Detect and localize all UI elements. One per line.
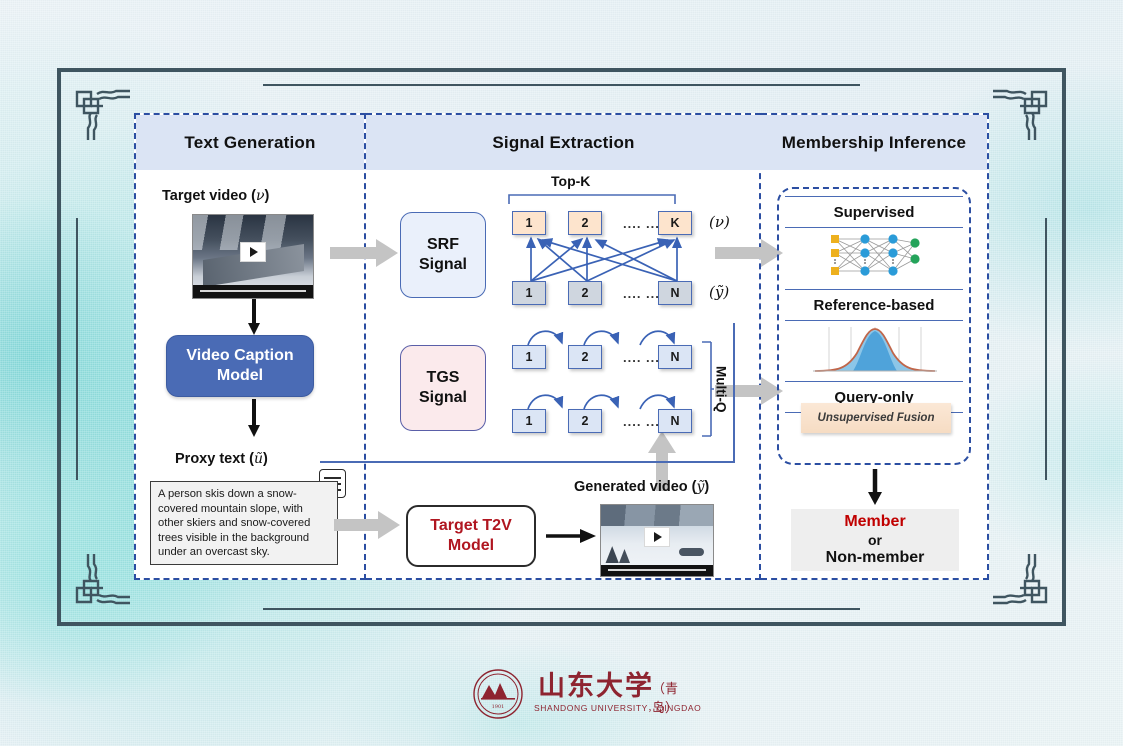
- frame-inner-line-right: [1045, 218, 1047, 480]
- target-video-caption-close: ): [265, 188, 270, 204]
- multiq-label: Multi-Q: [714, 366, 729, 413]
- frame-inner-line-left: [76, 218, 78, 480]
- arrow-caption-model-to-proxy-text: [246, 399, 262, 437]
- column-header-label: Signal Extraction: [492, 133, 634, 153]
- column-header-text-generation: Text Generation: [136, 115, 364, 170]
- video-progress-bar[interactable]: [193, 285, 313, 298]
- tgs-row1-arrows: [508, 325, 698, 349]
- generated-video-thumbnail[interactable]: [600, 504, 714, 577]
- proxy-text-body: A person skis down a snow-covered mounta…: [158, 488, 310, 558]
- srf-line2: Signal: [419, 255, 467, 275]
- srf-signal-box[interactable]: SRF Signal: [400, 212, 486, 298]
- srf-top-token: 1: [512, 211, 546, 235]
- play-button-icon[interactable]: [644, 527, 670, 547]
- distribution-curve-icon: [813, 325, 937, 379]
- video-rock: [679, 548, 704, 557]
- method-band-reference-based[interactable]: Reference-based: [785, 289, 963, 321]
- method-label-reference-based: Reference-based: [814, 297, 935, 314]
- frame-edge-bottom: [57, 622, 1066, 626]
- target-video-caption-text: Target video (: [162, 188, 256, 204]
- srf-bottom-token: 2: [568, 281, 602, 305]
- frame-inner-line-bottom: [263, 608, 860, 610]
- target-video-caption: Target video (ν): [162, 188, 269, 204]
- topk-label: Top-K: [551, 173, 590, 189]
- arrow-video-to-srf: [330, 239, 402, 267]
- logo-emblem-icon: 1901: [472, 668, 524, 720]
- unsupervised-fusion-label: Unsupervised Fusion: [818, 412, 935, 424]
- srf-top-symbol: (ν): [709, 213, 730, 231]
- frame-edge-right: [1062, 68, 1066, 626]
- result-member-label: Member: [844, 512, 905, 531]
- proxy-text-caption: Proxy text (ũ): [175, 451, 268, 467]
- video-caption-model-box[interactable]: Video Caption Model: [166, 335, 314, 397]
- column-header-signal-extraction: Signal Extraction: [366, 115, 761, 170]
- srf-top-token: 2: [568, 211, 602, 235]
- method-band-supervised[interactable]: Supervised: [785, 196, 963, 228]
- topk-bracket: [508, 193, 676, 205]
- play-button-icon[interactable]: [240, 242, 266, 262]
- logo-chinese-name: 山东大学: [538, 664, 654, 703]
- university-logo: 1901 山东大学 （青岛） SHANDONG UNIVERSITY，QINGD…: [472, 666, 682, 722]
- svg-text:1901: 1901: [492, 704, 505, 710]
- t2v-line2: Model: [448, 536, 494, 556]
- target-video-thumbnail[interactable]: [192, 214, 314, 299]
- caption-model-line1: Video Caption: [186, 346, 293, 366]
- unsupervised-fusion-banner[interactable]: Unsupervised Fusion: [801, 403, 951, 433]
- connector-line-horizontal: [320, 461, 735, 463]
- corner-ornament-icon: [71, 80, 133, 142]
- generated-video-caption: Generated video (ỹ): [574, 479, 709, 495]
- arrow-video-to-caption-model: [246, 299, 262, 335]
- generated-video-caption-text: Generated video (: [574, 479, 696, 495]
- column-header-label: Text Generation: [184, 133, 315, 153]
- corner-ornament-icon: [71, 552, 133, 614]
- membership-inference-column: Supervised: [761, 113, 989, 580]
- proxy-text-caption-close: ): [263, 451, 268, 467]
- target-video-symbol: ν: [256, 188, 265, 204]
- srf-bottom-symbol: (ỹ): [709, 283, 729, 301]
- result-non-member-label: Non-member: [826, 548, 925, 567]
- proxy-text-caption-text: Proxy text (: [175, 451, 254, 467]
- result-or-label: or: [868, 532, 882, 549]
- srf-line1: SRF: [427, 235, 459, 255]
- tgs-line1: TGS: [427, 368, 460, 388]
- pipeline-diagram: Text Generation Signal Extraction Member…: [134, 113, 989, 580]
- arrow-fusion-to-result: [867, 469, 883, 505]
- tgs-signal-box[interactable]: TGS Signal: [400, 345, 486, 431]
- video-progress-bar[interactable]: [601, 565, 713, 576]
- frame-inner-line-top: [263, 84, 860, 86]
- logo-english-name: SHANDONG UNIVERSITY，QINGDAO: [534, 702, 701, 714]
- srf-bottom-token: N: [658, 281, 692, 305]
- proxy-text-symbol: ũ: [254, 451, 263, 467]
- frame-edge-left: [57, 68, 61, 626]
- srf-crossing-arrows: [508, 233, 688, 283]
- corner-ornament-icon: [990, 552, 1052, 614]
- proxy-text-card[interactable]: A person skis down a snow-covered mounta…: [150, 481, 338, 565]
- srf-bottom-token: 1: [512, 281, 546, 305]
- arrow-t2v-to-generated-video: [546, 525, 596, 547]
- method-label-supervised: Supervised: [834, 204, 915, 221]
- tgs-line2: Signal: [419, 388, 467, 408]
- arrow-proxy-text-to-t2v: [334, 511, 404, 539]
- frame-edge-top: [57, 68, 1066, 72]
- generated-video-caption-close: ): [704, 479, 709, 495]
- video-mountain-ridge: [601, 505, 713, 526]
- multiq-label-wrap: Multi-Q: [710, 345, 732, 433]
- t2v-line1: Target T2V: [430, 516, 512, 536]
- caption-model-line2: Model: [217, 366, 263, 386]
- corner-ornament-icon: [990, 80, 1052, 142]
- target-t2v-model-box[interactable]: Target T2V Model: [406, 505, 536, 567]
- connector-line-vertical: [733, 323, 735, 463]
- result-box: Member or Non-member: [791, 509, 959, 571]
- srf-top-token: K: [658, 211, 692, 235]
- tgs-row2-arrows: [508, 389, 698, 413]
- neural-network-icon: [827, 233, 923, 279]
